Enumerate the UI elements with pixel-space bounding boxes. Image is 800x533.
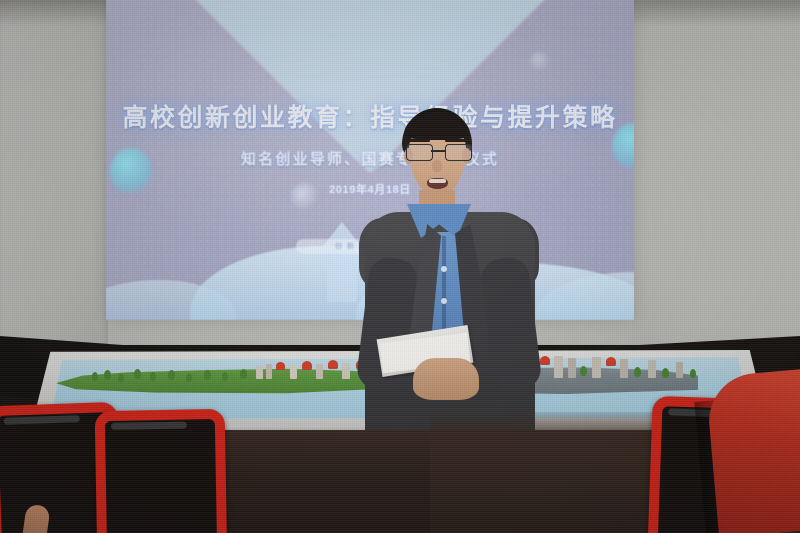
photo-scene: 高校创新创业教育：指导经验与提升策略 知名创业导师、国赛专家聘任仪式 2019年… <box>0 0 800 533</box>
speaker-teeth <box>429 179 446 183</box>
glasses-bridge <box>431 150 445 152</box>
speaker-brow-right <box>445 139 467 142</box>
red-jacket-person <box>705 367 800 533</box>
speaker-mouth <box>427 178 448 189</box>
chair-top-rail <box>4 415 80 425</box>
glasses-lens-left <box>406 144 433 161</box>
shirt-button <box>441 298 447 304</box>
speaker-brow-left <box>408 139 430 142</box>
glasses-lens-right <box>445 144 472 161</box>
slide-up-arrow-stem <box>327 256 357 302</box>
speaker-nose <box>432 160 442 172</box>
wall-panel-left <box>0 0 108 352</box>
shirt-button <box>441 266 447 272</box>
chair-top-rail <box>111 422 187 430</box>
speaker-hands <box>413 358 479 400</box>
wall-panel-right <box>632 0 800 352</box>
slide-circle-small-icon <box>530 52 550 72</box>
chair-front-center <box>95 409 228 533</box>
glasses-icon <box>405 144 471 160</box>
